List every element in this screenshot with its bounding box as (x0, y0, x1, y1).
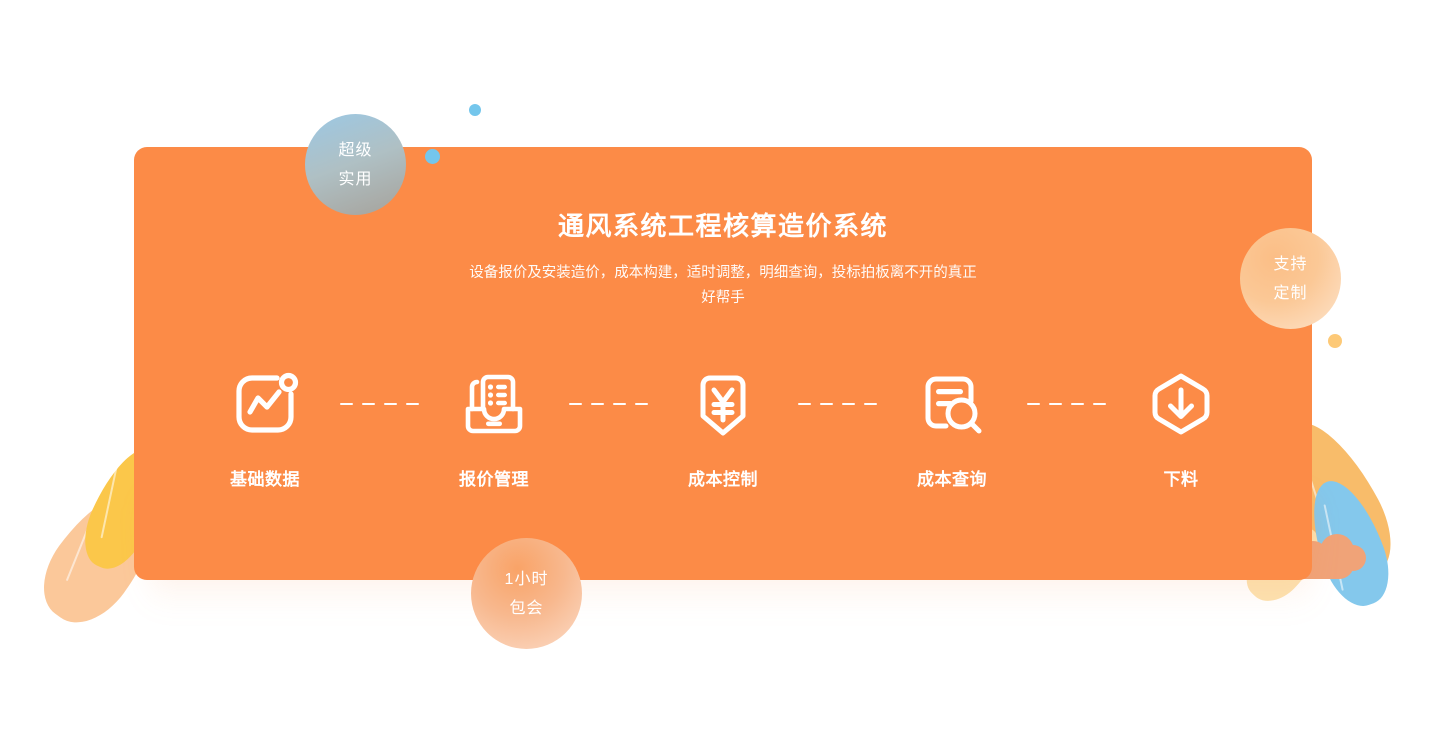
promo-card: 通风系统工程核算造价系统 设备报价及安装造价，成本构建，适时调整，明细查询，投标… (134, 147, 1312, 580)
badge-line-2: 包会 (509, 594, 543, 623)
page-title: 通风系统工程核算造价系统 (134, 209, 1312, 243)
feature-label: 成本控制 (688, 465, 758, 490)
badge-line-1: 1小时 (505, 565, 549, 594)
badge-line-2: 定制 (1273, 279, 1307, 308)
badge-line-1: 支持 (1273, 250, 1307, 279)
feature-label: 报价管理 (459, 465, 529, 490)
decorative-dot-amber (1328, 334, 1342, 348)
badge-line-1: 超级 (338, 136, 372, 165)
feature-label: 下料 (1164, 465, 1199, 490)
yuan-badge-icon (684, 365, 762, 443)
decorative-dot-blue (425, 149, 440, 164)
promo-banner: 通风系统工程核算造价系统 设备报价及安装造价，成本构建，适时调整，明细查询，投标… (0, 0, 1440, 730)
feature-item-cost-control[interactable]: 成本控制 (659, 365, 787, 490)
cloud-lobe (1340, 545, 1366, 571)
hexagon-download-icon (1142, 365, 1220, 443)
feature-item-cost-query[interactable]: 成本查询 (888, 365, 1016, 490)
chart-card-icon (226, 365, 304, 443)
badge-line-2: 实用 (338, 165, 372, 194)
badge-support-custom[interactable]: 支持 定制 (1240, 228, 1341, 329)
feature-list: 基础数据 (134, 365, 1312, 490)
connector-dashes (787, 365, 888, 443)
decorative-dot-blue (469, 104, 481, 116)
feature-item-material-cutting[interactable]: 下料 (1117, 365, 1245, 490)
document-search-icon (913, 365, 991, 443)
connector-dashes (329, 365, 430, 443)
card-header: 通风系统工程核算造价系统 设备报价及安装造价，成本构建，适时调整，明细查询，投标… (134, 209, 1312, 311)
badge-super-useful[interactable]: 超级 实用 (305, 114, 406, 215)
feature-item-basic-data[interactable]: 基础数据 (201, 365, 329, 490)
document-tray-icon (455, 365, 533, 443)
feature-label: 成本查询 (917, 465, 987, 490)
badge-one-hour[interactable]: 1小时 包会 (471, 538, 582, 649)
feature-item-quote-management[interactable]: 报价管理 (430, 365, 558, 490)
page-subtitle: 设备报价及安装造价，成本构建，适时调整，明细查询，投标拍板离不开的真正好帮手 (463, 261, 983, 311)
connector-dashes (1016, 365, 1117, 443)
feature-label: 基础数据 (230, 465, 300, 490)
connector-dashes (558, 365, 659, 443)
